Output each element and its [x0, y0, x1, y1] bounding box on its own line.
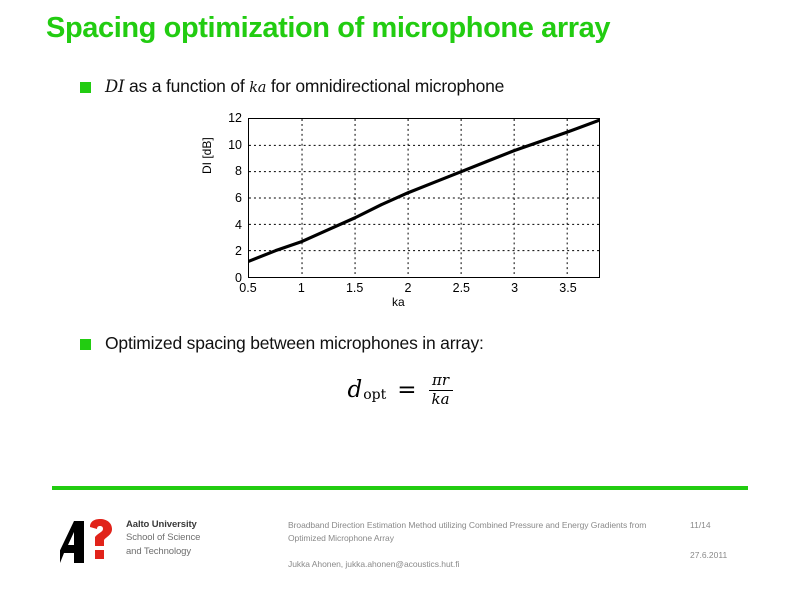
bullet-1-text-b: for omnidirectional microphone	[266, 76, 504, 96]
bullet-item-1: DI as a function of ka for omnidirection…	[80, 76, 504, 97]
equation-relation: =	[397, 377, 416, 403]
page-title: Spacing optimization of microphone array	[46, 12, 610, 45]
chart-canvas	[249, 119, 599, 277]
chart-x-tick-label: 0.5	[232, 282, 264, 295]
chart-y-axis-ticks: 024681012	[206, 112, 242, 277]
chart-gridlines	[249, 119, 599, 277]
equation-lhs-symbol: d	[347, 377, 362, 403]
equation-d-opt: dopt = πr ka	[0, 372, 800, 408]
chart-x-tick-label: 1.5	[339, 282, 371, 295]
chart-x-tick-label: 2	[392, 282, 424, 295]
chart-y-tick-label: 2	[235, 245, 242, 258]
chart-y-tick-label: 6	[235, 192, 242, 205]
equation-fraction: πr ka	[429, 372, 453, 408]
page-number: 11/14	[690, 519, 780, 532]
chart-x-tick-label: 1	[285, 282, 317, 295]
chart-y-tick-label: 10	[228, 139, 242, 152]
chart-plot-area	[248, 118, 600, 278]
footer-right-block: 11/14 27.6.2011	[690, 519, 780, 562]
aalto-university-logo-icon	[60, 519, 118, 563]
chart-y-tick-label: 8	[235, 165, 242, 178]
footer-divider	[52, 486, 748, 490]
equation-numerator: πr	[429, 372, 452, 390]
math-symbol-di: DI	[105, 77, 124, 96]
organization-line-1: School of Science	[126, 531, 200, 544]
organization-line-2: and Technology	[126, 545, 200, 558]
equation-lhs-subscript: opt	[363, 387, 386, 403]
math-symbol-ka: ka	[249, 80, 266, 96]
bullet-square-icon	[80, 82, 91, 93]
chart-y-tick-label: 4	[235, 219, 242, 232]
organization-block: Aalto University School of Science and T…	[126, 518, 200, 558]
bullet-square-icon	[80, 339, 91, 350]
bullet-item-2: Optimized spacing between microphones in…	[80, 333, 484, 354]
organization-name: Aalto University	[126, 518, 200, 531]
author-contact: Jukka Ahonen, jukka.ahonen@acoustics.hut…	[288, 558, 668, 571]
chart-data-line	[249, 120, 599, 261]
footer-center-block: Broadband Direction Estimation Method ut…	[288, 519, 668, 570]
chart-x-axis-ticks: 0.511.522.533.5	[248, 282, 600, 298]
slide-footer: Aalto University School of Science and T…	[0, 505, 800, 595]
equation-denominator: ka	[429, 390, 453, 409]
paper-title: Broadband Direction Estimation Method ut…	[288, 519, 668, 545]
chart-x-tick-label: 2.5	[445, 282, 477, 295]
bullet-1-text-a: as a function of	[124, 76, 249, 96]
chart-x-tick-label: 3	[499, 282, 531, 295]
chart-x-tick-label: 3.5	[552, 282, 584, 295]
presentation-date: 27.6.2011	[690, 549, 780, 562]
di-vs-ka-chart: DI [dB] ka 024681012 0.511.522.533.5	[206, 112, 606, 312]
bullet-item-1-label: DI as a function of ka for omnidirection…	[105, 76, 504, 97]
chart-y-tick-label: 12	[228, 112, 242, 125]
bullet-item-2-label: Optimized spacing between microphones in…	[105, 333, 484, 354]
